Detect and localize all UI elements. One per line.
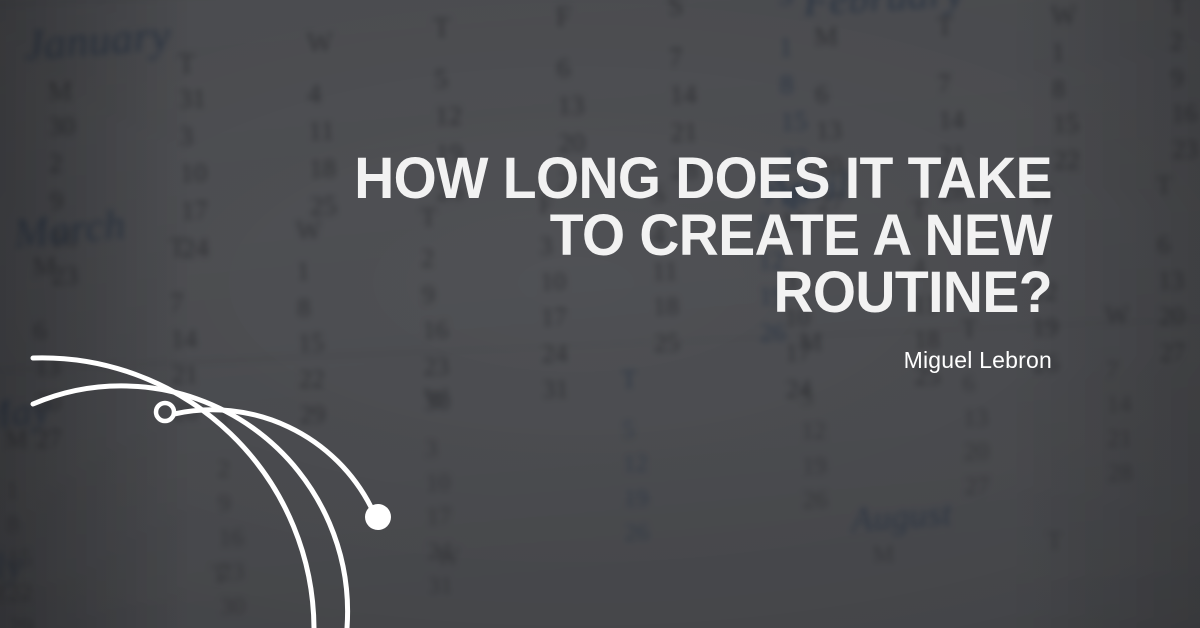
social-share-card: January M 30291623 T 313101724 W 4111825… [0, 0, 1200, 628]
page-title: HOW LONG DOES IT TAKE TO CREATE A NEW RO… [231, 150, 1052, 321]
headline-line-3: ROUTINE? [231, 264, 1052, 321]
headline-line-2: TO CREATE A NEW [231, 207, 1052, 264]
headline-line-1: HOW LONG DOES IT TAKE [231, 150, 1052, 207]
text-block: HOW LONG DOES IT TAKE TO CREATE A NEW RO… [192, 150, 1052, 374]
author-name: Miguel Lebron [192, 347, 1052, 374]
